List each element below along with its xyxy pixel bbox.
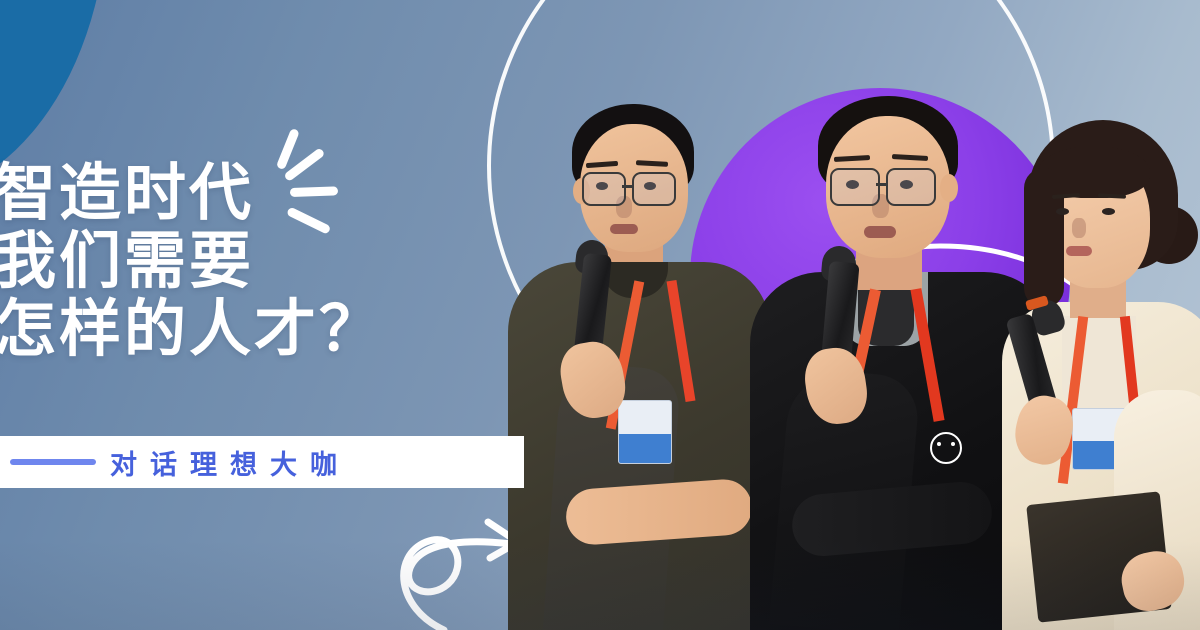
smiley-face-icon: [930, 432, 962, 464]
headline-line-3: 怎样的人才？: [0, 296, 384, 364]
speaker-right-side-hair: [1024, 168, 1064, 308]
speaker-right-nose: [1072, 218, 1086, 238]
subtitle-band: 对话理想大咖: [0, 436, 524, 488]
headline-line-2: 我们需要: [0, 228, 384, 296]
subtitle-dash-rule: [10, 459, 96, 465]
speaker-right-mouth: [1066, 246, 1092, 256]
speaker-center-mouth: [864, 226, 896, 238]
speaker-right-eye: [1056, 208, 1069, 215]
speaker-left-mouth: [610, 224, 638, 234]
speaker-right-eye: [1102, 208, 1115, 215]
speaker-left-id-badge: [618, 400, 672, 464]
event-poster-banner: 智造时代 我们需要 怎样的人才？ 对话理想大咖: [0, 0, 1200, 630]
speaker-center-ear: [940, 174, 958, 202]
page-title: 智造时代 我们需要 怎样的人才？: [0, 160, 384, 364]
speaker-right: [1010, 120, 1200, 630]
headline-line-1: 智造时代: [0, 160, 384, 228]
subtitle-text: 对话理想大咖: [110, 443, 350, 482]
speaker-left: [470, 104, 770, 630]
